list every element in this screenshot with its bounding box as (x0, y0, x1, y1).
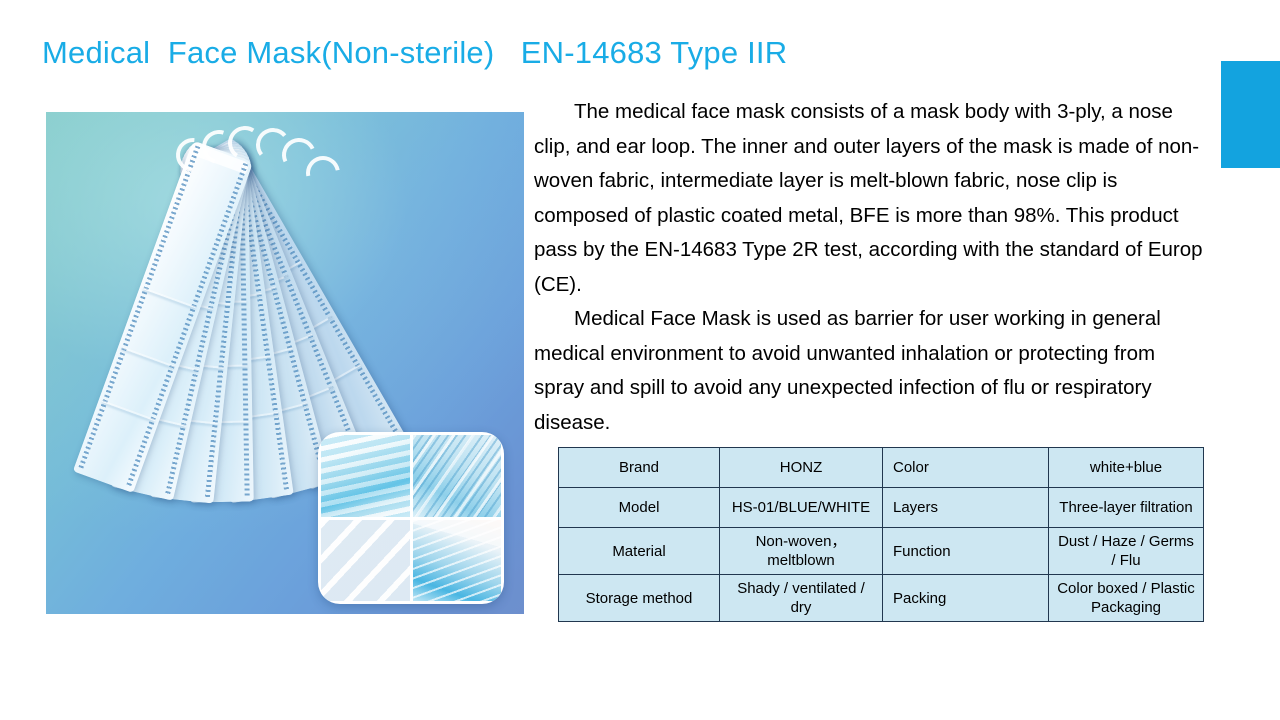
description-paragraph-1: The medical face mask consists of a mask… (534, 95, 1210, 302)
spec-value-storage-method: Shady / ventilated / dry (720, 575, 883, 622)
spec-label-brand: Brand (559, 448, 720, 488)
spec-label-function: Function (883, 528, 1049, 575)
table-row: Storage method Shady / ventilated / dry … (559, 575, 1204, 622)
spec-value-color: white+blue (1049, 448, 1204, 488)
spec-value-brand: HONZ (720, 448, 883, 488)
decorative-corner-block (1221, 61, 1280, 168)
collage-cell-inner-layer-closeup (413, 435, 502, 517)
spec-value-material: Non-woven，meltblown (720, 528, 883, 575)
table-row: Material Non-woven，meltblown Function Du… (559, 528, 1204, 575)
spec-value-packing: Color boxed / Plastic Packaging (1049, 575, 1204, 622)
spec-label-layers: Layers (883, 488, 1049, 528)
mask-detail-collage (318, 432, 504, 604)
spec-label-model: Model (559, 488, 720, 528)
slide-canvas: Medical Face Mask(Non-sterile) EN-14683 … (0, 0, 1280, 720)
table-row: Model HS-01/BLUE/WHITE Layers Three-laye… (559, 488, 1204, 528)
product-photo (46, 112, 524, 614)
page-title: Medical Face Mask(Non-sterile) EN-14683 … (42, 32, 1162, 74)
spec-value-layers: Three-layer filtration (1049, 488, 1204, 528)
spec-label-material: Material (559, 528, 720, 575)
collage-cell-edge-seal-closeup (413, 520, 502, 602)
spec-value-model: HS-01/BLUE/WHITE (720, 488, 883, 528)
spec-label-storage-method: Storage method (559, 575, 720, 622)
spec-label-color: Color (883, 448, 1049, 488)
spec-value-function: Dust / Haze / Germs / Flu (1049, 528, 1204, 575)
spec-label-packing: Packing (883, 575, 1049, 622)
description-paragraph-2: Medical Face Mask is used as barrier for… (534, 302, 1210, 440)
description-text-block: The medical face mask consists of a mask… (534, 95, 1210, 440)
collage-cell-pleat-closeup (321, 435, 410, 517)
table-row: Brand HONZ Color white+blue (559, 448, 1204, 488)
specification-table: Brand HONZ Color white+blue Model HS-01/… (558, 447, 1204, 622)
collage-cell-outer-layer-closeup (321, 520, 410, 602)
